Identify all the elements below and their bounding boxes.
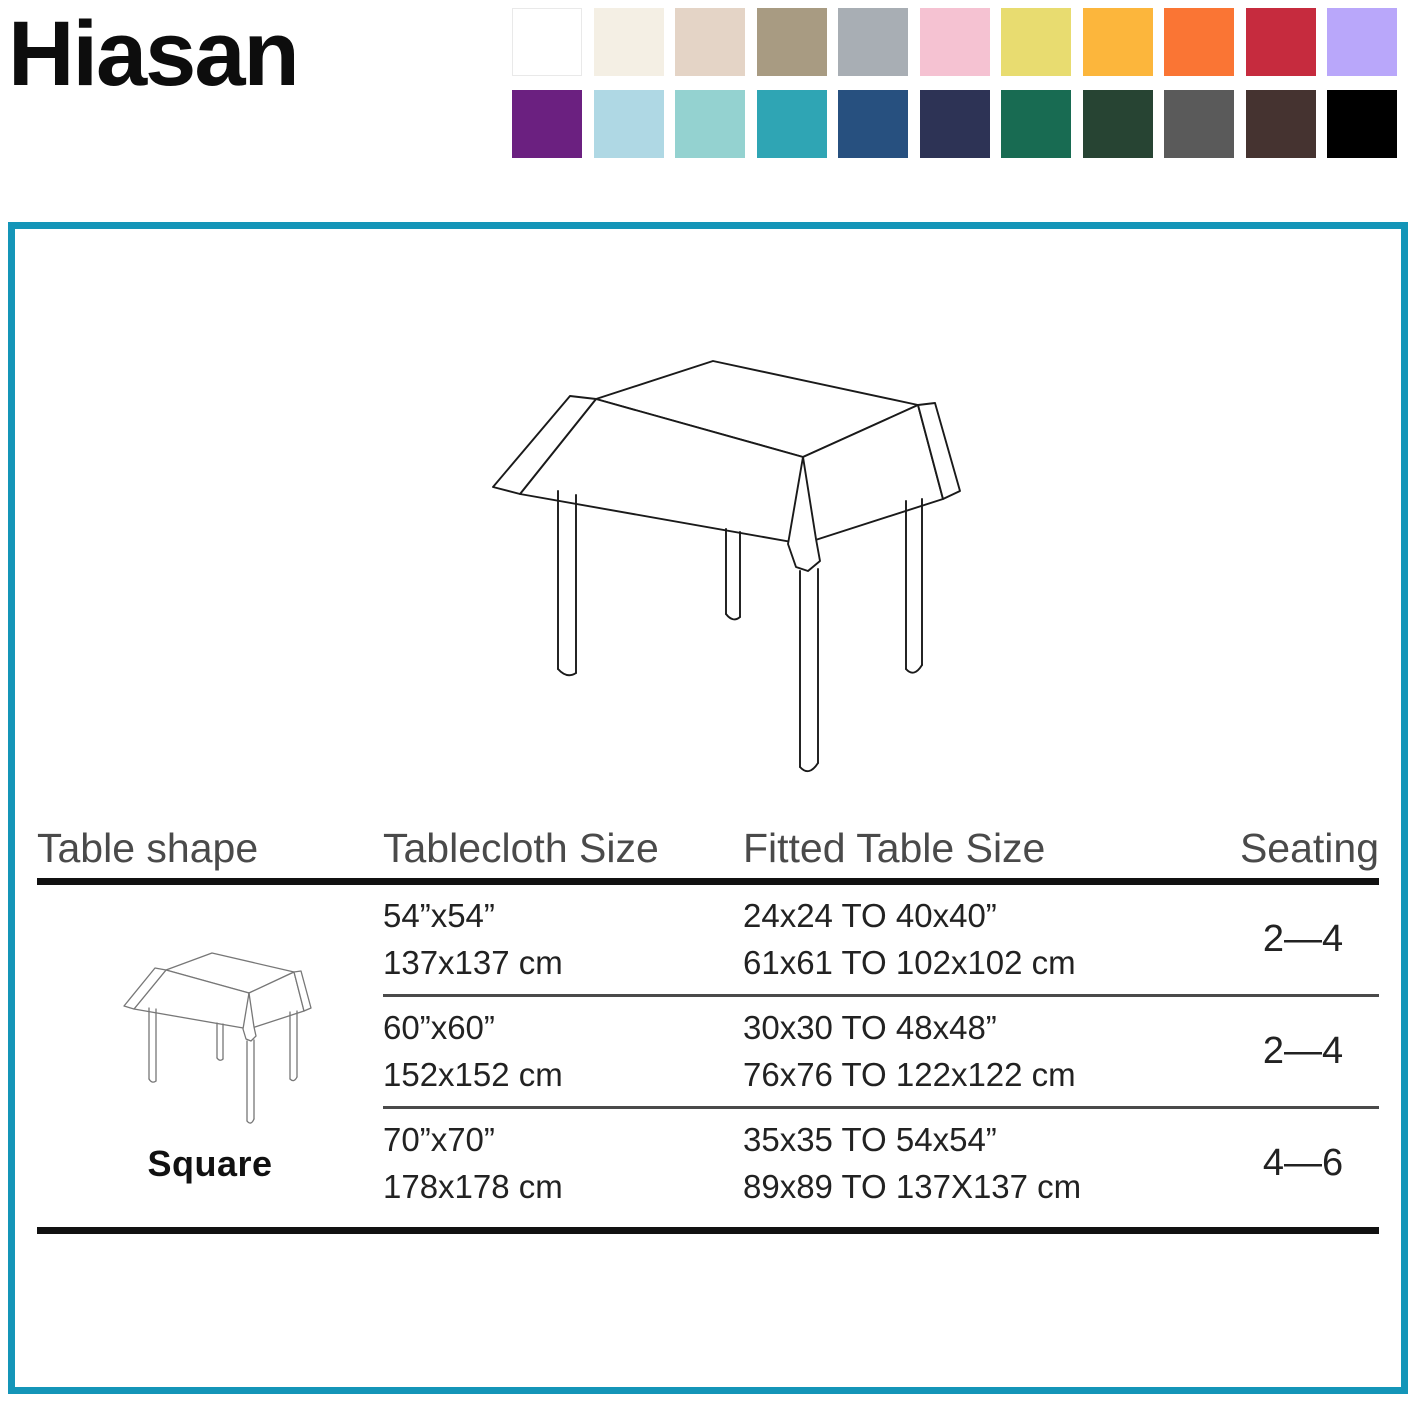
shape-cell: Square (37, 885, 383, 1218)
swatch-white[interactable] (512, 8, 582, 76)
square-table-icon-large (448, 339, 968, 779)
fitted-size-inches: 24x24 TO 40x40” (743, 893, 1227, 940)
swatch-beige[interactable] (675, 8, 745, 76)
swatch-taupe[interactable] (757, 8, 827, 76)
swatch-dark-brown[interactable] (1246, 90, 1316, 158)
cloth-size-inches: 54”x54” (383, 893, 743, 940)
table-header-row: Table shape Tablecloth Size Fitted Table… (37, 807, 1379, 869)
header-band: Hiasan (0, 0, 1416, 200)
color-swatch-grid (512, 8, 1408, 158)
square-table-icon (104, 945, 316, 1133)
swatch-ivory[interactable] (594, 8, 664, 76)
cell-fitted-table-size: 35x35 TO 54x54” 89x89 TO 137X137 cm (743, 1117, 1227, 1211)
fitted-size-inches: 30x30 TO 48x48” (743, 1005, 1227, 1052)
cell-fitted-table-size: 24x24 TO 40x40” 61x61 TO 102x102 cm (743, 893, 1227, 987)
cell-tablecloth-size: 70”x70” 178x178 cm (383, 1117, 743, 1211)
swatch-pale-yellow[interactable] (1001, 8, 1071, 76)
swatch-emerald-green[interactable] (1001, 90, 1071, 158)
swatch-royal-blue[interactable] (838, 90, 908, 158)
fitted-size-cm: 76x76 TO 122x122 cm (743, 1052, 1227, 1099)
cell-seating: 4—6 (1227, 1142, 1379, 1185)
swatch-pale-aqua[interactable] (675, 90, 745, 158)
swatch-orange[interactable] (1164, 8, 1234, 76)
swatch-golden-yellow[interactable] (1083, 8, 1153, 76)
cloth-size-inches: 70”x70” (383, 1117, 743, 1164)
cloth-size-inches: 60”x60” (383, 1005, 743, 1052)
fitted-size-cm: 89x89 TO 137X137 cm (743, 1164, 1227, 1211)
column-header-seating: Seating (1227, 828, 1379, 869)
swatch-teal[interactable] (757, 90, 827, 158)
info-card-frame: Table shape Tablecloth Size Fitted Table… (8, 222, 1408, 1394)
fitted-size-cm: 61x61 TO 102x102 cm (743, 940, 1227, 987)
cell-tablecloth-size: 54”x54” 137x137 cm (383, 893, 743, 987)
swatch-silver-gray[interactable] (838, 8, 908, 76)
table-rows: 54”x54” 137x137 cm 24x24 TO 40x40” 61x61… (383, 885, 1379, 1218)
table-bottom-rule (37, 1227, 1379, 1234)
column-header-fitted-table-size: Fitted Table Size (743, 828, 1227, 869)
table-row: 60”x60” 152x152 cm 30x30 TO 48x48” 76x76… (383, 997, 1379, 1106)
cloth-size-cm: 178x178 cm (383, 1164, 743, 1211)
swatch-row-1 (512, 8, 1408, 76)
brand-logo: Hiasan (8, 8, 298, 100)
cell-seating: 2—4 (1227, 1030, 1379, 1073)
swatch-crimson-red[interactable] (1246, 8, 1316, 76)
swatch-light-blue[interactable] (594, 90, 664, 158)
swatch-navy[interactable] (920, 90, 990, 158)
column-header-tablecloth-size: Tablecloth Size (383, 828, 743, 869)
swatch-forest-green[interactable] (1083, 90, 1153, 158)
cell-seating: 2—4 (1227, 918, 1379, 961)
size-chart-table: Table shape Tablecloth Size Fitted Table… (37, 807, 1379, 1234)
table-row: 54”x54” 137x137 cm 24x24 TO 40x40” 61x61… (383, 885, 1379, 994)
shape-label: Square (147, 1143, 272, 1185)
swatch-row-2 (512, 90, 1408, 158)
swatch-charcoal-gray[interactable] (1164, 90, 1234, 158)
swatch-purple[interactable] (512, 90, 582, 158)
swatch-lavender[interactable] (1327, 8, 1397, 76)
cell-fitted-table-size: 30x30 TO 48x48” 76x76 TO 122x122 cm (743, 1005, 1227, 1099)
square-table-illustration (15, 329, 1401, 789)
fitted-size-inches: 35x35 TO 54x54” (743, 1117, 1227, 1164)
cell-tablecloth-size: 60”x60” 152x152 cm (383, 1005, 743, 1099)
swatch-black[interactable] (1327, 90, 1397, 158)
cloth-size-cm: 152x152 cm (383, 1052, 743, 1099)
table-row: 70”x70” 178x178 cm 35x35 TO 54x54” 89x89… (383, 1109, 1379, 1218)
cloth-size-cm: 137x137 cm (383, 940, 743, 987)
header-divider-rule (37, 878, 1379, 885)
swatch-blush-pink[interactable] (920, 8, 990, 76)
column-header-table-shape: Table shape (37, 828, 383, 869)
table-body: Square 54”x54” 137x137 cm 24x24 TO 40x40… (37, 885, 1379, 1218)
